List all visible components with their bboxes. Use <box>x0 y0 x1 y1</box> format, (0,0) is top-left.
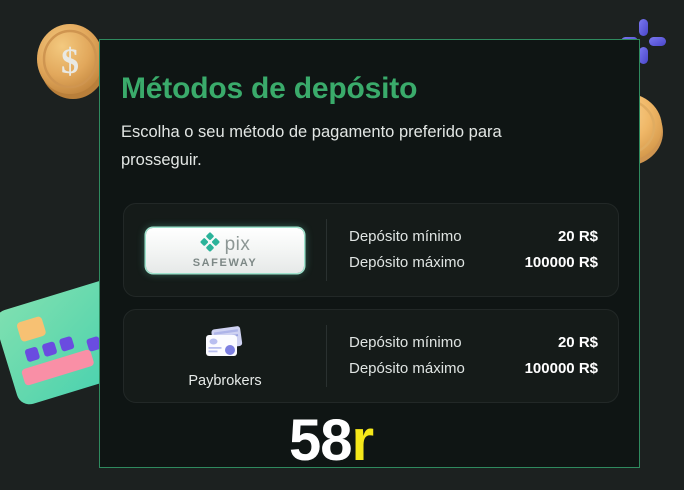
min-deposit-label: Depósito mínimo <box>349 330 462 356</box>
deposit-limits: Depósito mínimo 20 R$ Depósito máximo 10… <box>327 224 618 276</box>
max-deposit-value: 100000 R$ <box>525 250 598 276</box>
min-deposit-row: Depósito mínimo 20 R$ <box>349 330 598 356</box>
watermark-number: 58 <box>289 408 352 473</box>
max-deposit-label: Depósito máximo <box>349 250 465 276</box>
payment-method-pix[interactable]: pix SAFEWAY Depósito mínimo 20 R$ Depósi… <box>123 203 619 297</box>
payment-method-paybrokers[interactable]: Paybrokers Depósito mínimo 20 R$ Depósit… <box>123 309 619 403</box>
pix-diamond-icon <box>200 232 220 257</box>
max-deposit-row: Depósito máximo 100000 R$ <box>349 250 598 276</box>
payment-method-brand: pix SAFEWAY <box>124 204 326 296</box>
min-deposit-row: Depósito mínimo 20 R$ <box>349 224 598 250</box>
pix-logo-tile: pix SAFEWAY <box>146 228 304 273</box>
svg-text:$: $ <box>61 41 79 81</box>
page-subtitle: Escolha o seu método de pagamento prefer… <box>121 118 571 174</box>
max-deposit-value: 100000 R$ <box>525 356 598 382</box>
payment-method-brand: Paybrokers <box>124 310 326 402</box>
max-deposit-row: Depósito máximo 100000 R$ <box>349 356 598 382</box>
min-deposit-value: 20 R$ <box>558 224 598 250</box>
watermark-overlay: 58r <box>289 412 373 470</box>
safeway-wordmark: SAFEWAY <box>193 258 258 269</box>
min-deposit-value: 20 R$ <box>558 330 598 356</box>
watermark-letter: r <box>352 408 374 473</box>
payment-methods-list: pix SAFEWAY Depósito mínimo 20 R$ Depósi… <box>123 203 619 415</box>
pix-wordmark: pix <box>225 235 251 254</box>
paybrokers-label: Paybrokers <box>188 373 261 389</box>
page-title: Métodos de depósito <box>121 72 417 106</box>
deposit-methods-panel: Métodos de depósito Escolha o seu método… <box>99 39 640 468</box>
min-deposit-label: Depósito mínimo <box>349 224 462 250</box>
payment-cards-icon <box>201 324 249 367</box>
max-deposit-label: Depósito máximo <box>349 356 465 382</box>
deposit-limits: Depósito mínimo 20 R$ Depósito máximo 10… <box>327 330 618 382</box>
